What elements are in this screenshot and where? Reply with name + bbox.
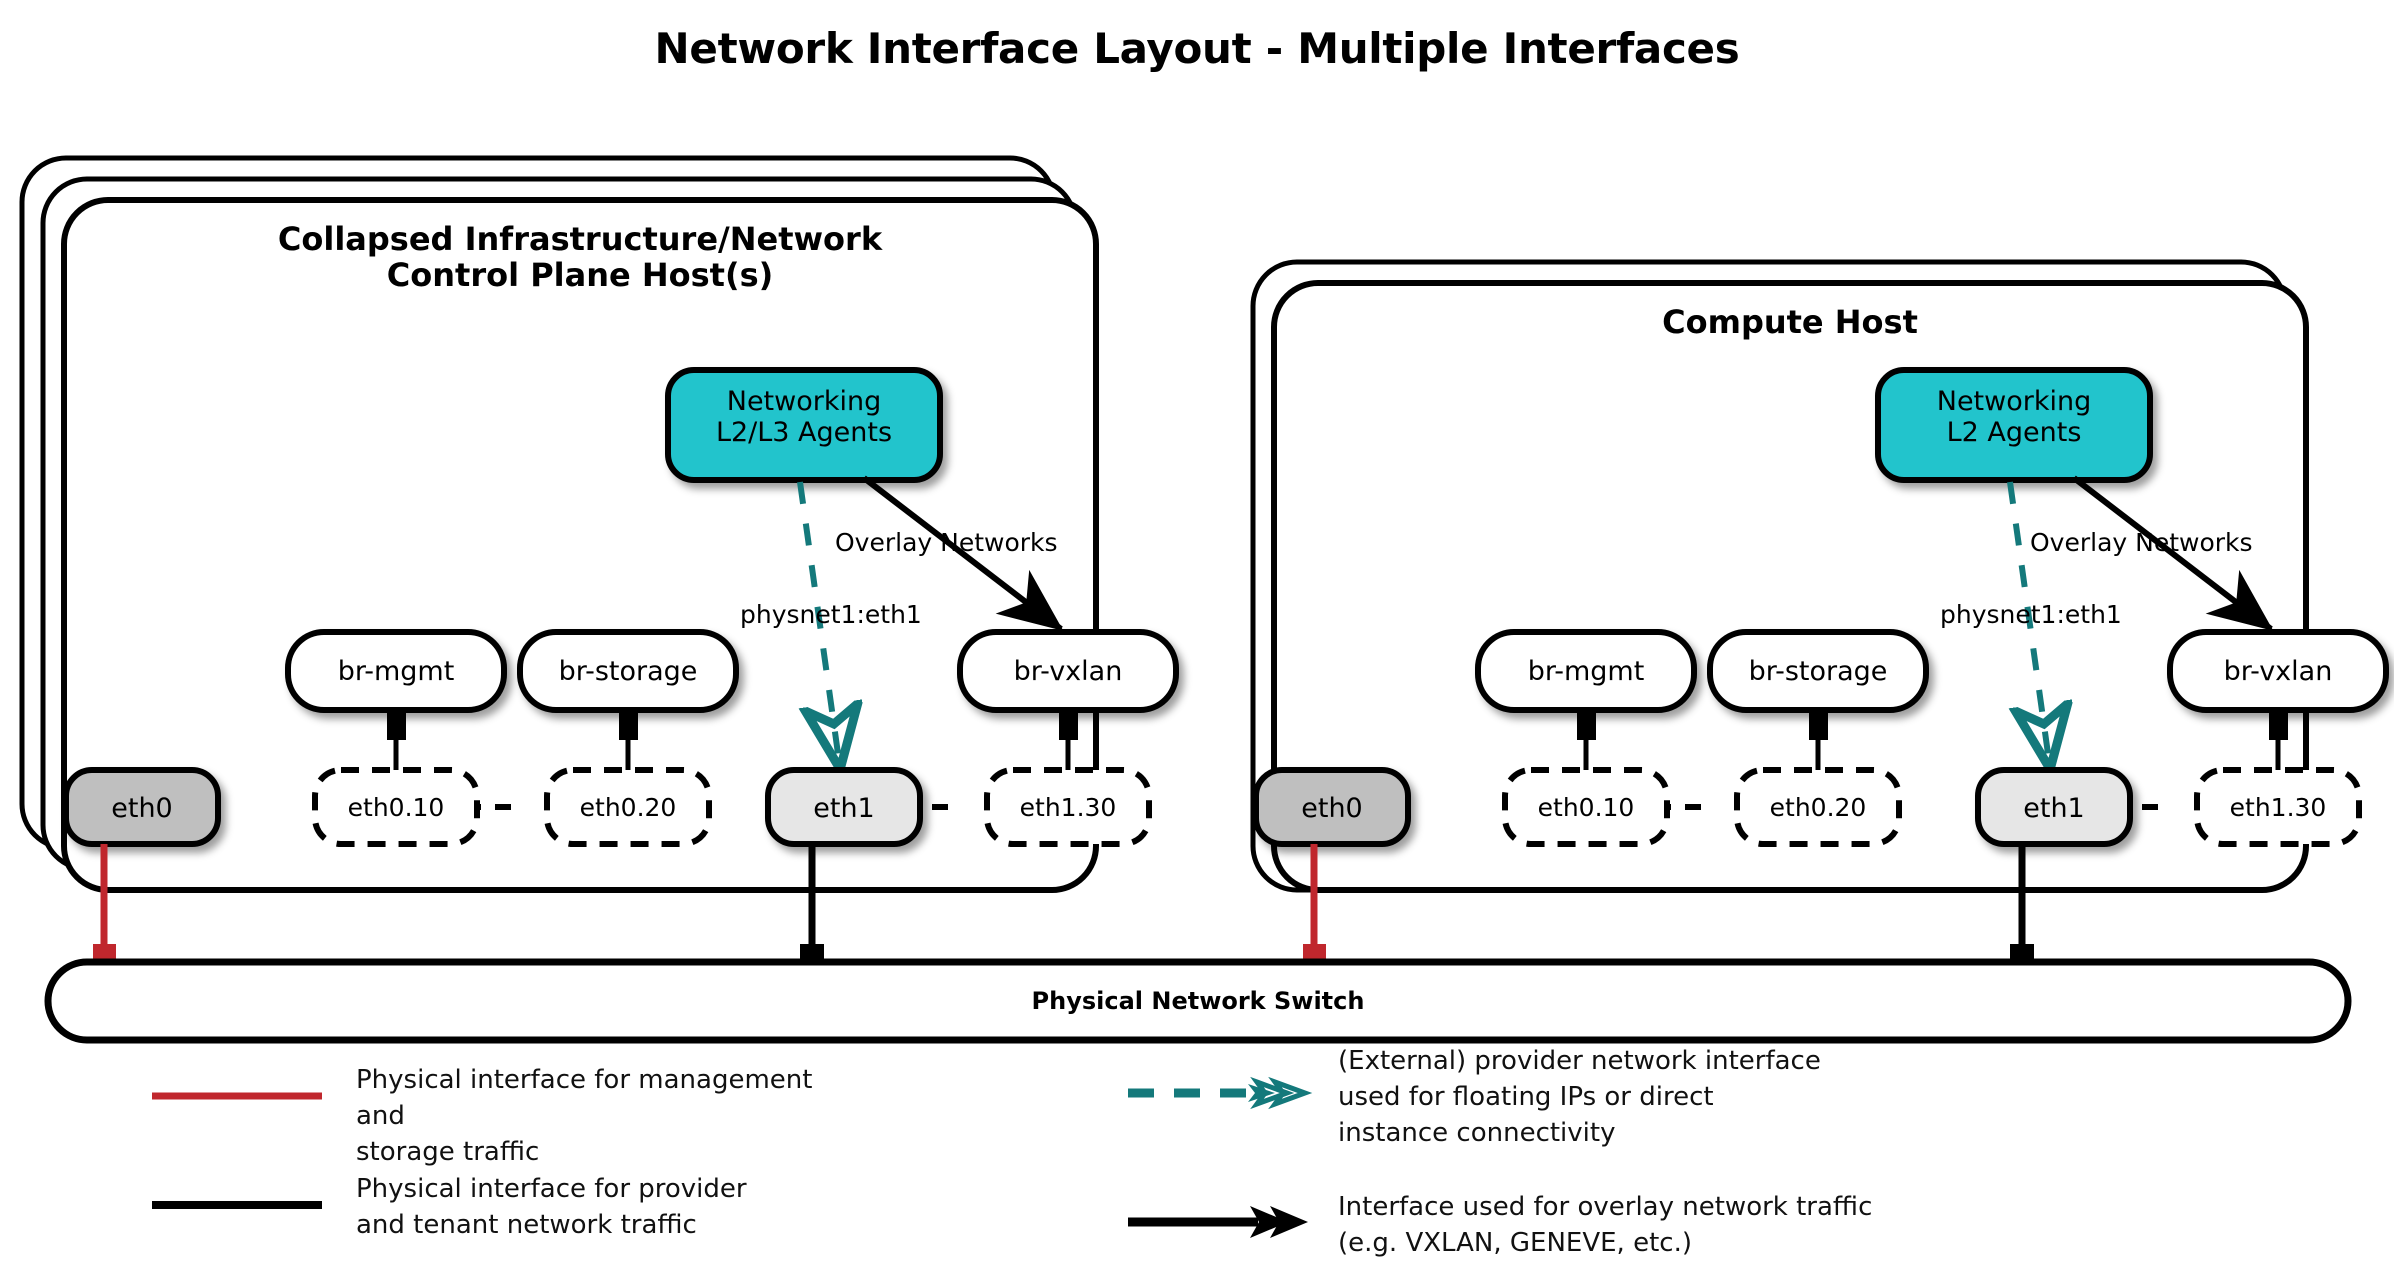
edge-label-physnet-control-plane: physnet1:eth1 [740, 600, 922, 629]
switch-label: Physical Network Switch [48, 987, 2348, 1015]
host-title-line1: Compute Host [1274, 305, 2306, 341]
bridge-br-storage-compute[interactable] [1710, 632, 1926, 710]
interface-eth1-30-compute[interactable] [2197, 770, 2359, 844]
agents-box-compute[interactable] [1878, 370, 2150, 480]
agents-box-control-plane[interactable] [668, 370, 940, 480]
host-title-control-plane: Collapsed Infrastructure/Network Control… [64, 222, 1096, 294]
edge-label-overlay-compute: Overlay Networks [2030, 528, 2253, 557]
edge-label-physnet-compute: physnet1:eth1 [1940, 600, 2122, 629]
legend-text-external-provider: (External) provider network interface us… [1338, 1044, 1898, 1152]
bridge-br-mgmt-compute[interactable] [1478, 632, 1694, 710]
interface-eth0-control-plane[interactable] [66, 770, 218, 844]
interface-eth0-20-control-plane[interactable] [547, 770, 709, 844]
interface-eth1-compute[interactable] [1978, 770, 2130, 844]
bridge-br-storage-control-plane[interactable] [520, 632, 736, 710]
legend-marker-external-provider [1128, 1082, 1305, 1104]
interface-eth0-20-compute[interactable] [1737, 770, 1899, 844]
interface-eth0-10-control-plane[interactable] [315, 770, 477, 844]
legend-text-mgmt-storage: Physical interface for management and st… [356, 1063, 856, 1171]
edge-label-overlay-control-plane: Overlay Networks [835, 528, 1058, 557]
bridge-br-mgmt-control-plane[interactable] [288, 632, 504, 710]
interface-eth0-10-compute[interactable] [1505, 770, 1667, 844]
bridge-br-vxlan-control-plane[interactable] [960, 632, 1176, 710]
interface-eth1-control-plane[interactable] [768, 770, 920, 844]
legend-text-provider-tenant: Physical interface for provider and tena… [356, 1172, 856, 1244]
bridge-br-vxlan-compute[interactable] [2170, 632, 2386, 710]
legend-text-overlay-traffic: Interface used for overlay network traff… [1338, 1190, 1958, 1262]
legend-marker-overlay-traffic [1128, 1206, 1308, 1238]
host-title-line1: Collapsed Infrastructure/Network [64, 222, 1096, 258]
diagram-canvas: Network Interface Layout - Multiple Inte… [0, 0, 2394, 1274]
interface-eth1-30-control-plane[interactable] [987, 770, 1149, 844]
host-title-line2: Control Plane Host(s) [64, 258, 1096, 294]
host-title-compute: Compute Host [1274, 305, 2306, 341]
interface-eth0-compute[interactable] [1256, 770, 1408, 844]
